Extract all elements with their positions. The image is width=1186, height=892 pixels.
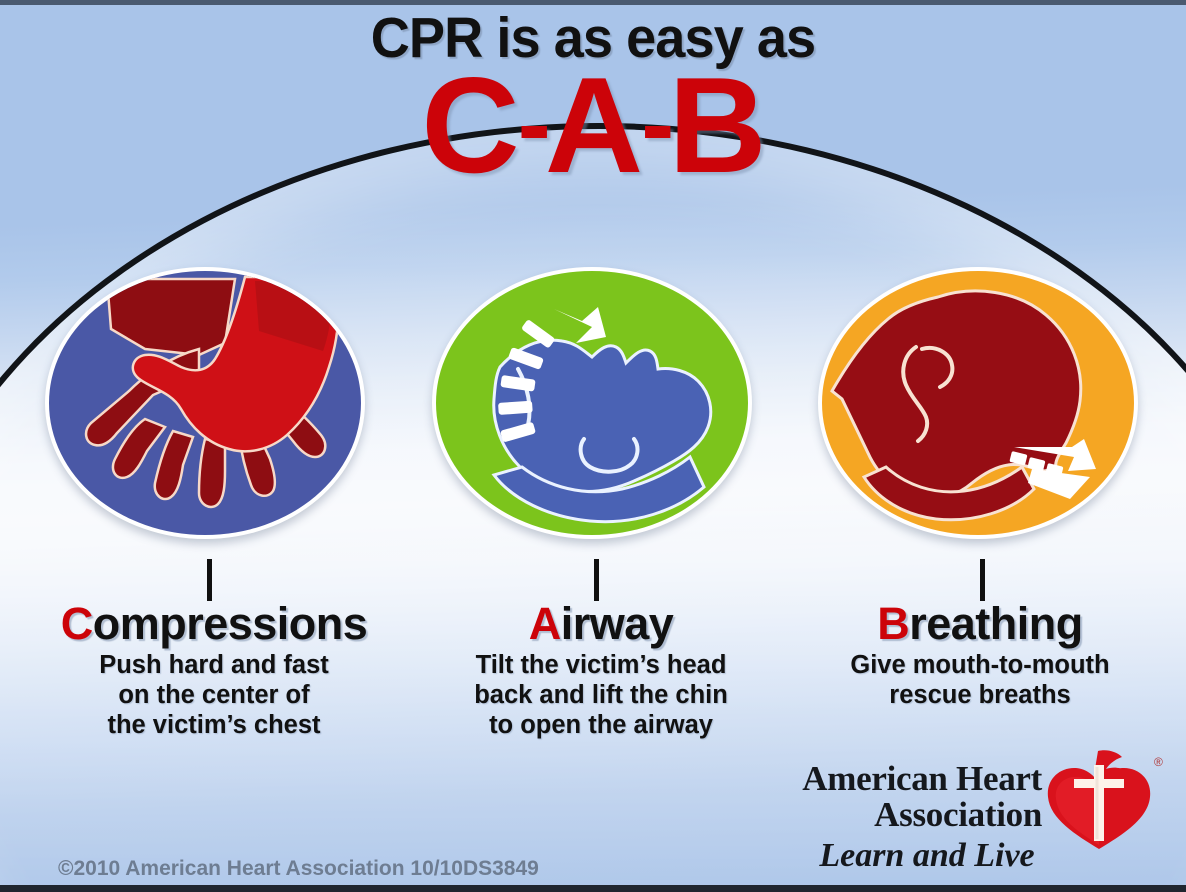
step-label-breathing: Breathing Give mouth-to-mouth rescue bre… (790, 601, 1170, 710)
oval-background-green (432, 267, 752, 539)
step-initial-c: C (61, 598, 93, 649)
pointer-tick-breathing (980, 559, 985, 601)
cpr-infographic-poster: CPR is as easy as C-A-B (0, 0, 1186, 892)
registered-trademark-mark: ® (1154, 755, 1163, 769)
head-tilt-airway-icon (436, 271, 752, 539)
step-label-compressions: Compressions Push hard and fast on the c… (8, 601, 420, 740)
poster-content: CPR is as easy as C-A-B (0, 5, 1186, 885)
acronym-letter-a: A (545, 49, 641, 201)
step-title-compressions: Compressions (8, 601, 420, 646)
acronym-separator-2: - (641, 68, 668, 180)
step-description-compressions: Push hard and fast on the center of the … (8, 650, 420, 740)
step-illustrations-row (0, 263, 1186, 553)
mouth-to-mouth-breathing-icon (822, 271, 1138, 539)
acronym-separator-1: - (518, 68, 545, 180)
step-title-airway: Airway (415, 601, 787, 646)
step-title-breathing: Breathing (790, 601, 1170, 646)
copyright-notice: ©2010 American Heart Association 10/10DS… (58, 857, 539, 881)
logo-line-1: American Heart (752, 761, 1042, 797)
logo-line-2: Association (752, 797, 1042, 833)
step-label-airway: Airway Tilt the victim’s head back and l… (415, 601, 787, 740)
pointer-tick-airway (594, 559, 599, 601)
american-heart-association-logo: American Heart Association ® Learn and L… (752, 753, 1162, 873)
acronym-letter-c: C (421, 49, 517, 201)
page-title: CPR is as easy as (30, 9, 1157, 68)
logo-tagline: Learn and Live (752, 837, 1102, 875)
step-illustration-airway (432, 267, 752, 539)
acronym-cab: C-A-B (0, 62, 1186, 188)
step-description-airway: Tilt the victim’s head back and lift the… (415, 650, 787, 740)
title-block: CPR is as easy as C-A-B (0, 5, 1186, 189)
desc-line: Tilt the victim’s head (415, 650, 787, 680)
two-hands-compression-icon (49, 271, 365, 539)
oval-background-orange (818, 267, 1138, 539)
desc-line: Give mouth-to-mouth (790, 650, 1170, 680)
step-description-breathing: Give mouth-to-mouth rescue breaths (790, 650, 1170, 710)
desc-line: on the center of (8, 680, 420, 710)
step-initial-a: A (529, 598, 561, 649)
step-illustration-compressions (45, 267, 365, 539)
desc-line: back and lift the chin (415, 680, 787, 710)
step-title-rest-b: reathing (909, 598, 1083, 649)
pointer-tick-compressions (207, 559, 212, 601)
step-initial-b: B (877, 598, 909, 649)
desc-line: the victim’s chest (8, 710, 420, 740)
oval-background-blue (45, 267, 365, 539)
step-illustration-breathing (818, 267, 1138, 539)
desc-line: to open the airway (415, 710, 787, 740)
acronym-letter-b: B (668, 49, 764, 201)
desc-line: Push hard and fast (8, 650, 420, 680)
logo-wordmark: American Heart Association (752, 761, 1042, 834)
step-title-rest-a: irway (561, 598, 674, 649)
desc-line: rescue breaths (790, 680, 1170, 710)
step-title-rest-c: ompressions (93, 598, 368, 649)
